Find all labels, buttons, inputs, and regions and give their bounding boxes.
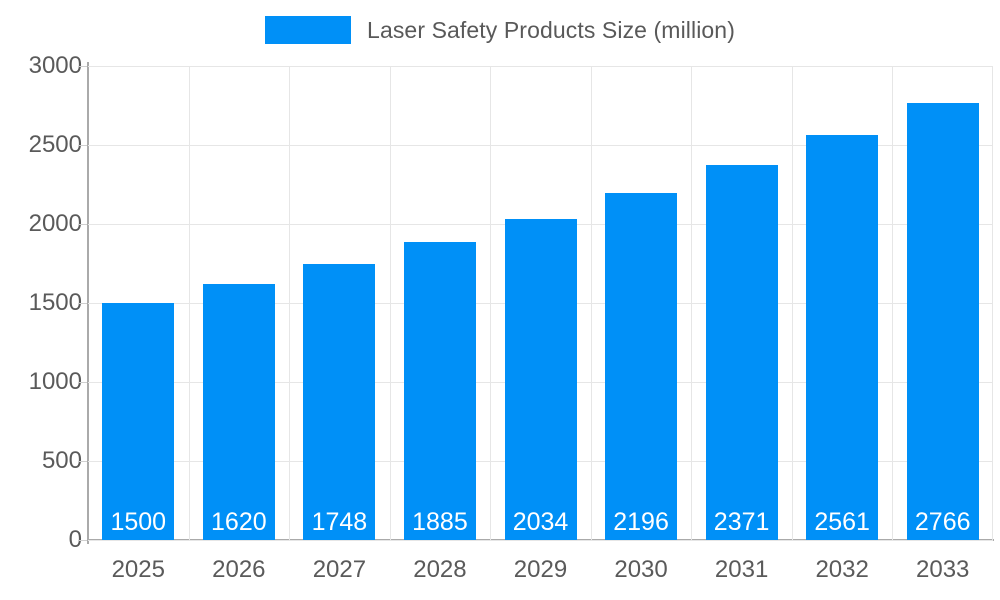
gridline-vertical (992, 66, 993, 540)
x-axis-tick-label: 2031 (691, 556, 792, 584)
bar-value-label: 1885 (404, 508, 476, 537)
x-axis-tick-label: 2027 (289, 556, 390, 584)
bar-chart: Laser Safety Products Size (million) 050… (0, 0, 1000, 600)
y-axis-tick-label: 1000 (6, 368, 82, 396)
bar-value-label: 2034 (505, 508, 577, 537)
gridline-vertical (390, 66, 391, 540)
y-axis-tick-label: 2500 (6, 131, 82, 159)
bar-value-label: 1620 (203, 508, 275, 537)
bar-value-label: 2371 (706, 508, 778, 537)
bar[interactable]: 1885 (404, 242, 476, 540)
gridline-vertical (892, 66, 893, 540)
gridline-vertical (189, 66, 190, 540)
y-axis-tick-labels: 050010001500200025003000 (0, 66, 82, 540)
bar[interactable]: 1500 (102, 303, 174, 540)
gridline-vertical (490, 66, 491, 540)
x-axis-tick-label: 2026 (189, 556, 290, 584)
y-axis-tick-label: 2000 (6, 210, 82, 238)
bar[interactable]: 1748 (303, 264, 375, 540)
x-axis-tick-label: 2033 (892, 556, 993, 584)
bar-value-label: 1748 (303, 508, 375, 537)
x-axis-tick-label: 2025 (88, 556, 189, 584)
y-axis-tick-label: 1500 (6, 289, 82, 317)
gridline-vertical (591, 66, 592, 540)
gridline-horizontal (88, 66, 993, 67)
chart-legend: Laser Safety Products Size (million) (0, 10, 1000, 50)
bar[interactable]: 2371 (706, 165, 778, 540)
x-axis-tick-label: 2030 (591, 556, 692, 584)
gridline-horizontal (88, 540, 993, 541)
bar[interactable]: 2034 (505, 219, 577, 540)
gridline-vertical (792, 66, 793, 540)
bar[interactable]: 2196 (605, 193, 677, 540)
x-axis-tick-label: 2028 (390, 556, 491, 584)
legend-item-laser-safety-products-size[interactable]: Laser Safety Products Size (million) (265, 16, 735, 44)
legend-label: Laser Safety Products Size (million) (367, 17, 735, 44)
y-axis-tick-label: 500 (6, 447, 82, 475)
x-axis-tick-label: 2029 (490, 556, 591, 584)
bar-value-label: 2766 (907, 508, 979, 537)
y-axis-tick-label: 0 (6, 526, 82, 554)
legend-color-swatch-icon (265, 16, 351, 44)
bar-value-label: 2196 (605, 508, 677, 537)
bar-value-label: 1500 (102, 508, 174, 537)
x-axis-tick-label: 2032 (792, 556, 893, 584)
bar-value-label: 2561 (806, 508, 878, 537)
gridline-vertical (691, 66, 692, 540)
plot-area: 150016201748188520342196237125612766 (88, 66, 993, 540)
bar[interactable]: 1620 (203, 284, 275, 540)
bar[interactable]: 2561 (806, 135, 878, 540)
bar[interactable]: 2766 (907, 103, 979, 540)
y-axis-tick-label: 3000 (6, 52, 82, 80)
gridline-vertical (289, 66, 290, 540)
